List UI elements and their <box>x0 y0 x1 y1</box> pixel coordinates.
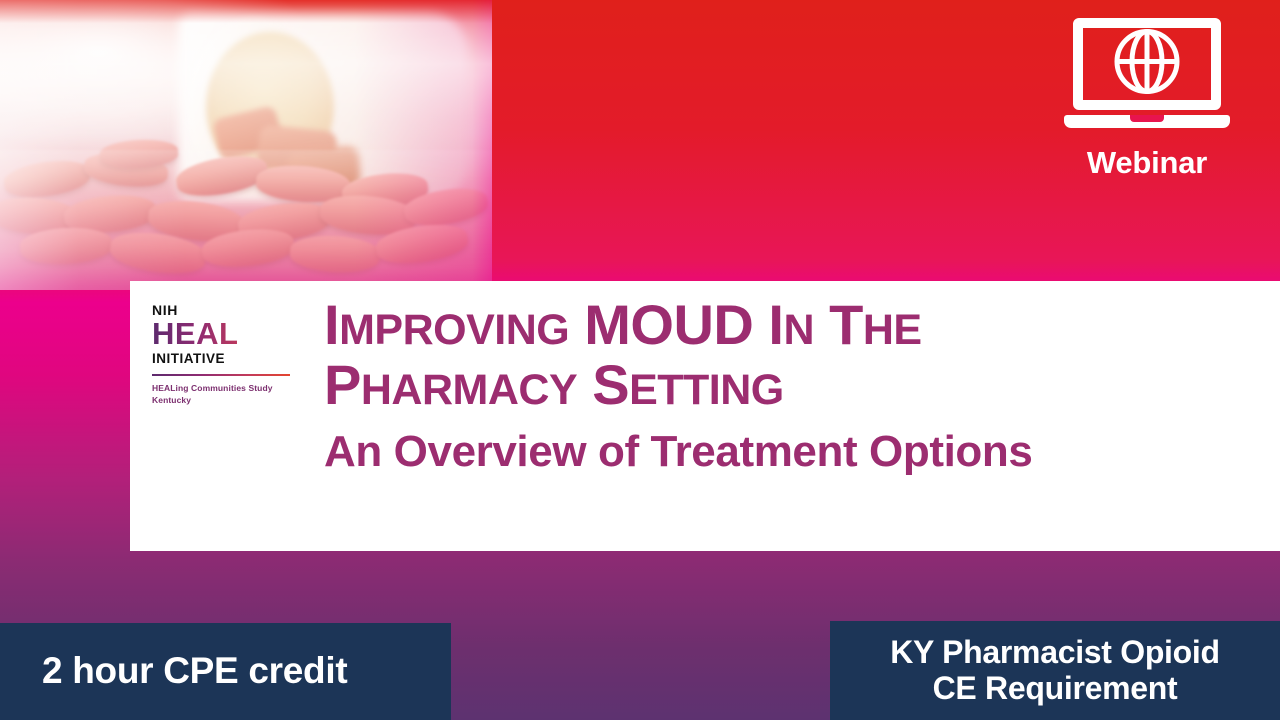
logo-heal-text: HEAL <box>152 318 302 351</box>
title-text-block: IMPROVING MOUD IN THE PHARMACY SETTING A… <box>302 281 1280 476</box>
cpe-credit-text: 2 hour CPE credit <box>42 651 347 692</box>
title-l1-w4-rest: HE <box>863 306 922 354</box>
title-l1-acronym: MOUD <box>584 293 753 356</box>
laptop-base-notch <box>1130 115 1164 122</box>
photo-color-overlay <box>0 0 492 290</box>
slide-subtitle: An Overview of Treatment Options <box>324 428 1280 476</box>
cpe-credit-banner: 2 hour CPE credit <box>0 623 451 720</box>
title-line-2: PHARMACY SETTING <box>324 355 1280 415</box>
globe-icon <box>1111 26 1183 103</box>
ce-requirement-banner: KY Pharmacist Opioid CE Requirement <box>830 621 1280 720</box>
logo-gradient-rule <box>152 374 290 376</box>
logo-initiative-text: INITIATIVE <box>152 351 302 367</box>
nih-heal-initiative-logo: NIH HEAL INITIATIVE HEALing Communities … <box>152 303 302 407</box>
logo-tagline-line1: HEALing Communities Study <box>152 382 302 394</box>
logo-tagline-line2: Kentucky <box>152 394 302 406</box>
logo-tagline: HEALing Communities Study Kentucky <box>152 382 302 407</box>
title-l1-w1-cap: I <box>324 293 339 356</box>
ce-requirement-line2: CE Requirement <box>890 671 1220 707</box>
title-l2-w1-rest: HARMACY <box>361 366 577 414</box>
title-card: NIH HEAL INITIATIVE HEALing Communities … <box>130 281 1280 551</box>
webinar-label: Webinar <box>1047 147 1247 178</box>
ce-requirement-text: KY Pharmacist Opioid CE Requirement <box>890 635 1220 707</box>
title-l2-w1-cap: P <box>324 353 361 416</box>
pill-bottle-photo <box>0 0 492 290</box>
title-l2-w2-cap: S <box>592 353 629 416</box>
title-line-1: IMPROVING MOUD IN THE <box>324 295 1280 355</box>
title-l1-w1-rest: MPROVING <box>339 306 569 354</box>
ce-requirement-line1: KY Pharmacist Opioid <box>890 635 1220 671</box>
title-l1-w4-cap: T <box>829 293 863 356</box>
webinar-title-slide: Webinar NIH HEAL INITIATIVE HEALing Comm… <box>0 0 1280 720</box>
laptop-icon <box>1073 18 1221 130</box>
title-l2-w2-rest: ETTING <box>629 366 784 414</box>
title-l1-w3-rest: N <box>783 306 814 354</box>
title-l1-w3-cap: I <box>768 293 783 356</box>
webinar-badge: Webinar <box>1047 18 1247 183</box>
